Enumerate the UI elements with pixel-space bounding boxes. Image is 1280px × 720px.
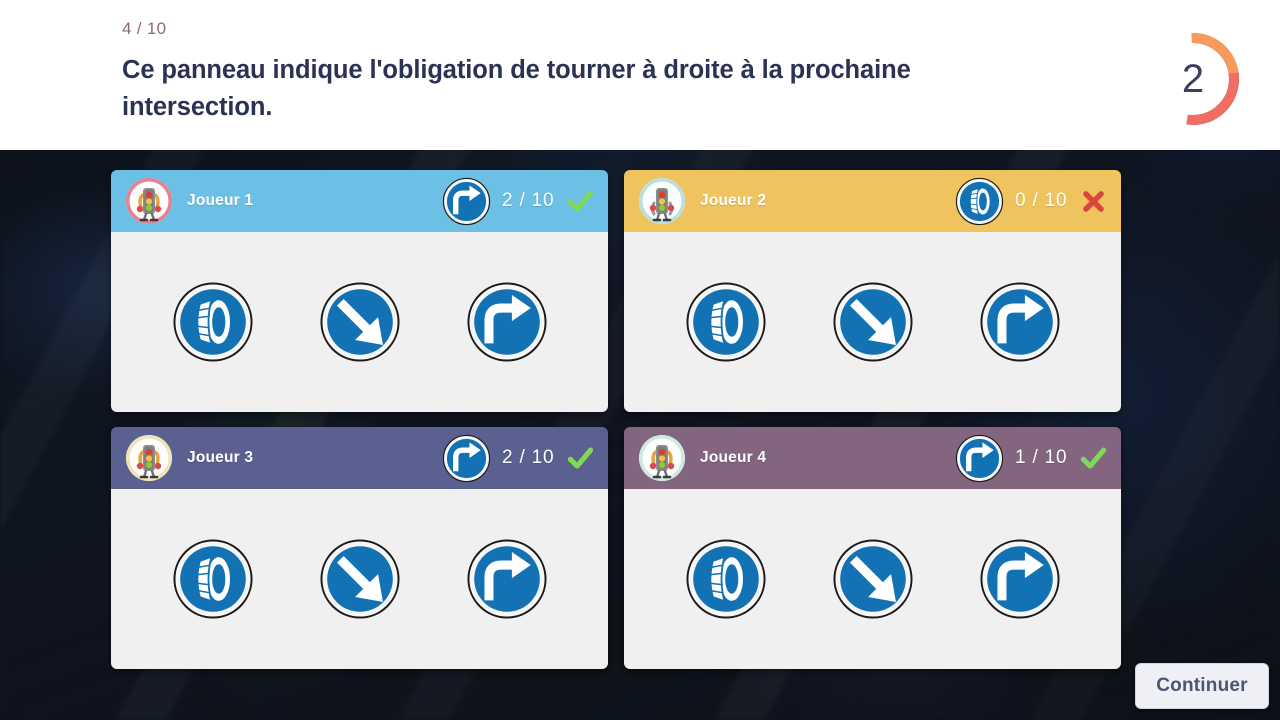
turn-right-sign[interactable] [979,281,1061,363]
player-result: 2 / 10 [442,434,594,483]
avatar [126,435,172,481]
avatar [126,178,172,224]
keep-right-diagonal-sign[interactable] [832,538,914,620]
player-name: Joueur 2 [700,192,766,210]
player-card: Joueur 3 2 / 10 [111,427,608,669]
player-card: Joueur 4 1 / 10 [624,427,1121,669]
avatar [639,178,685,224]
player-score: 2 / 10 [502,190,556,212]
keep-right-diagonal-sign[interactable] [832,281,914,363]
player-result: 1 / 10 [955,434,1107,483]
player-card-header: Joueur 2 0 / 10 [624,170,1121,232]
players-grid: Joueur 1 2 / 10 Joueur 2 0 / 10 [111,170,1121,669]
check-icon [1080,445,1107,472]
player-card: Joueur 2 0 / 10 [624,170,1121,412]
avatar [639,435,685,481]
player-answer-options [624,232,1121,412]
quiz-screen: 4 / 10 Ce panneau indique l'obligation d… [0,0,1280,720]
player-score: 1 / 10 [1015,447,1069,469]
continue-button[interactable]: Continuer [1135,663,1269,709]
turn-right-sign[interactable] [466,281,548,363]
player-score: 2 / 10 [502,447,556,469]
keep-right-diagonal-sign[interactable] [319,538,401,620]
check-icon [567,445,594,472]
snow-chains-sign[interactable] [685,538,767,620]
timer-value: 2 [1141,27,1245,131]
player-result: 0 / 10 [955,177,1107,226]
turn-right-sign[interactable] [979,538,1061,620]
turn-right-sign [955,434,1004,483]
countdown-timer: 2 [1141,27,1245,131]
check-icon [567,188,594,215]
snow-chains-sign[interactable] [685,281,767,363]
turn-right-sign [442,177,491,226]
question-progress: 4 / 10 [122,19,166,39]
player-name: Joueur 1 [187,192,253,210]
player-result: 2 / 10 [442,177,594,226]
question-bar: 4 / 10 Ce panneau indique l'obligation d… [0,0,1280,150]
player-answer-options [111,232,608,412]
player-card-header: Joueur 4 1 / 10 [624,427,1121,489]
turn-right-sign [442,434,491,483]
snow-chains-sign[interactable] [172,538,254,620]
player-score: 0 / 10 [1015,190,1069,212]
question-text: Ce panneau indique l'obligation de tourn… [122,52,942,126]
player-answer-options [624,489,1121,669]
player-card-header: Joueur 3 2 / 10 [111,427,608,489]
player-name: Joueur 3 [187,449,253,467]
player-name: Joueur 4 [700,449,766,467]
player-answer-options [111,489,608,669]
player-card: Joueur 1 2 / 10 [111,170,608,412]
snow-chains-sign[interactable] [172,281,254,363]
snow-chains-sign [955,177,1004,226]
keep-right-diagonal-sign[interactable] [319,281,401,363]
cross-icon [1080,188,1107,215]
turn-right-sign[interactable] [466,538,548,620]
player-card-header: Joueur 1 2 / 10 [111,170,608,232]
